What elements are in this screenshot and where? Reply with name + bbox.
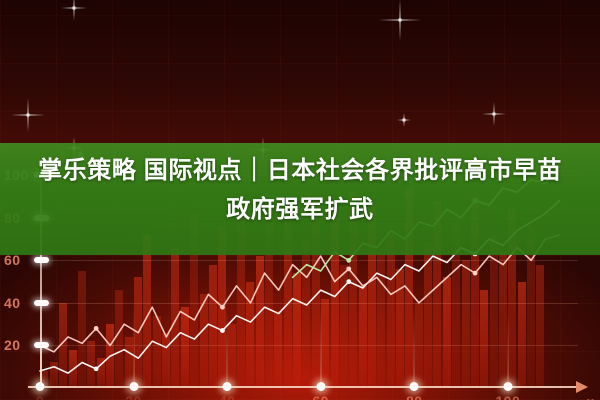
data-point-marker <box>220 328 225 333</box>
x-gridline <box>320 307 321 387</box>
x-gridline <box>414 307 415 387</box>
poster-stage: 20406080100 020406080100 x 掌乐策略 国际视点｜日本社… <box>0 0 600 400</box>
y-gridline <box>40 260 578 261</box>
headline: 掌乐策略 国际视点｜日本社会各界批评高市早苗 政府强军扩武 <box>0 150 600 242</box>
x-tick-label: 20 <box>125 393 142 400</box>
headline-line-2: 政府强军扩武 <box>226 189 374 224</box>
x-tick-label: 60 <box>312 393 329 400</box>
x-axis <box>28 386 576 388</box>
x-axis-label: x <box>587 394 594 400</box>
data-point-marker <box>94 366 99 371</box>
x-tick-label: 100 <box>495 393 520 400</box>
x-tick-label: 40 <box>219 393 236 400</box>
x-tick-label: 80 <box>406 393 423 400</box>
y-tick-label: 20 <box>4 337 21 353</box>
data-point-marker <box>94 326 99 331</box>
x-tick <box>36 382 45 391</box>
x-gridline <box>133 307 134 387</box>
x-gridline <box>507 307 508 387</box>
y-gridline <box>40 303 578 304</box>
data-point-marker <box>473 271 478 276</box>
data-point-marker <box>346 279 351 284</box>
y-tick-label: 40 <box>4 295 21 311</box>
x-tick-label: 0 <box>36 393 44 400</box>
headline-line-1: 掌乐策略 国际视点｜日本社会各界批评高市早苗 <box>38 150 562 185</box>
x-gridline <box>227 307 228 387</box>
data-point-marker <box>346 266 351 271</box>
x-axis-arrow-icon <box>576 381 588 393</box>
y-gridline <box>40 345 578 346</box>
data-point-marker <box>220 305 225 310</box>
